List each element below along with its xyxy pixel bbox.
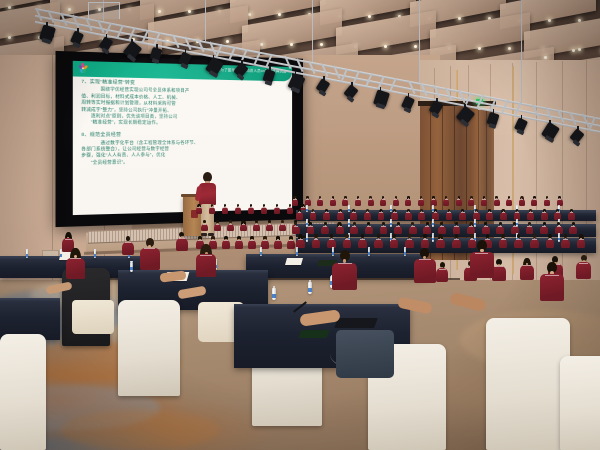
- water-bottle-label: [306, 238, 308, 241]
- audience-member-collar: [144, 248, 155, 249]
- audience-member-collar: [344, 199, 347, 200]
- audience-chair: [560, 356, 600, 450]
- audience-member-collar: [432, 199, 435, 200]
- audience-member: [561, 234, 570, 247]
- audience-member: [374, 234, 383, 247]
- table-top-surface: [234, 304, 410, 307]
- audience-member: [459, 209, 466, 220]
- audience-member-collar: [255, 224, 259, 225]
- audience-member-collar: [495, 266, 503, 267]
- audience-member-collar: [338, 212, 342, 213]
- audience-member: [176, 232, 188, 250]
- audience-member-collar: [345, 239, 350, 240]
- audience-member: [496, 222, 504, 234]
- audience-member-shirt: [409, 226, 417, 235]
- audience-member-collar: [454, 226, 458, 227]
- audience-member-shirt: [394, 226, 402, 235]
- audience-member: [292, 196, 298, 205]
- audience-member-shirt: [201, 224, 208, 232]
- water-bottle-label: [94, 254, 96, 257]
- audience-member-collar: [447, 212, 451, 213]
- audience-member: [520, 258, 534, 280]
- audience-member-collar: [360, 239, 365, 240]
- audience-member-collar: [475, 253, 488, 254]
- audience-member: [405, 234, 414, 247]
- audience-member-collar: [211, 240, 215, 241]
- audience-member-collar: [533, 199, 536, 200]
- water-bottle-label: [130, 267, 133, 271]
- audience-member-collar: [558, 199, 561, 200]
- audience-member: [296, 209, 303, 220]
- audience-member-collar: [445, 199, 448, 200]
- audience-member: [312, 234, 321, 247]
- audience-member: [274, 204, 280, 213]
- audience-member-collar: [419, 259, 431, 260]
- audience-member-shirt: [261, 240, 269, 249]
- audience-member: [431, 196, 437, 205]
- audience-member: [568, 209, 575, 220]
- audience-member-collar: [276, 240, 280, 241]
- audience-member-shirt: [66, 258, 85, 279]
- audience-member-collar: [570, 212, 574, 213]
- audience-member-shirt: [499, 239, 508, 249]
- audience-member-collar: [407, 199, 410, 200]
- audience-member-shirt: [365, 226, 373, 235]
- water-bottle-label: [260, 252, 262, 255]
- audience-member: [544, 196, 550, 205]
- audience-member-collar: [338, 263, 352, 264]
- audience-member: [436, 262, 448, 281]
- audience-member-collar: [396, 226, 400, 227]
- audience-member: [196, 204, 202, 213]
- table-top-surface: [0, 298, 60, 301]
- audience-member-collar: [216, 224, 220, 225]
- audience-member: [227, 220, 234, 231]
- audience-member: [453, 222, 461, 234]
- audience-member: [514, 209, 521, 220]
- audience-chair: [118, 300, 180, 396]
- audience-member-collar: [275, 207, 278, 208]
- audience-member-shirt: [414, 259, 436, 283]
- audience-member-collar: [406, 212, 410, 213]
- audience-member-shirt: [577, 239, 586, 249]
- audience-member: [555, 222, 563, 234]
- audience-member-collar: [288, 207, 291, 208]
- audience-member-shirt: [436, 268, 448, 282]
- attendee-trousers: [72, 300, 114, 334]
- audience-member-collar: [306, 199, 309, 200]
- audience-member-shirt: [482, 226, 490, 235]
- audience-member-collar: [523, 265, 531, 266]
- audience-member-collar: [502, 212, 506, 213]
- audience-member: [122, 236, 134, 255]
- audience-member: [343, 234, 352, 247]
- water-bottle-label: [368, 252, 370, 255]
- water-bottle-label: [432, 223, 434, 225]
- audience-member-collar: [197, 207, 200, 208]
- audience-member: [350, 209, 357, 220]
- audience-member-collar: [210, 207, 213, 208]
- audience-member-collar: [249, 207, 252, 208]
- audience-member: [261, 236, 269, 248]
- audience-member-collar: [498, 226, 502, 227]
- audience-member: [486, 209, 493, 220]
- audience-member-collar: [223, 207, 226, 208]
- audience-member-collar: [392, 239, 397, 240]
- audience-member: [546, 234, 555, 247]
- audience-member-collar: [379, 212, 383, 213]
- audience-member-collar: [407, 239, 412, 240]
- audience-member-collar: [411, 226, 415, 227]
- audience-member: [368, 196, 374, 205]
- audience-member: [274, 236, 282, 248]
- audience-member-shirt: [453, 226, 461, 235]
- audience-member: [482, 222, 490, 234]
- audience-chair: [0, 334, 46, 450]
- audience-member-collar: [434, 212, 438, 213]
- audience-member: [526, 222, 534, 234]
- audience-member-collar: [563, 239, 568, 240]
- audience-member: [473, 209, 480, 220]
- audience-member-shirt: [546, 239, 555, 249]
- audience-member-collar: [369, 199, 372, 200]
- audience-member-collar: [352, 212, 356, 213]
- audience-member-shirt: [496, 226, 504, 235]
- attendee-arm: [449, 292, 487, 312]
- audience-member: [405, 209, 412, 220]
- audience-member-collar: [294, 226, 298, 227]
- audience-member: [355, 196, 361, 205]
- audience-member: [500, 209, 507, 220]
- audience-member-shirt: [452, 239, 461, 249]
- mobile-device: [334, 318, 378, 328]
- audience-member-shirt: [279, 224, 286, 232]
- water-bottle-label: [26, 254, 28, 257]
- audience-member-collar: [513, 226, 517, 227]
- audience-member-collar: [308, 226, 312, 227]
- audience-member: [336, 222, 344, 234]
- audience-member-shirt: [421, 239, 430, 249]
- audience-member: [378, 209, 385, 220]
- audience-member-shirt: [514, 239, 523, 249]
- audience-member: [287, 236, 295, 248]
- audience-member-collar: [548, 239, 553, 240]
- audience-member-shirt: [576, 262, 591, 279]
- audience-member-collar: [224, 240, 228, 241]
- audience-member: [423, 222, 431, 234]
- audience-member: [279, 220, 286, 231]
- audience-member: [317, 196, 323, 205]
- audience-member-collar: [289, 240, 293, 241]
- audience-member-collar: [438, 239, 443, 240]
- audience-member-collar: [329, 239, 334, 240]
- audience-member: [365, 222, 373, 234]
- audience-member-collar: [545, 275, 559, 276]
- audience-member: [452, 234, 461, 247]
- audience-member-shirt: [561, 239, 570, 249]
- audience-member-collar: [457, 199, 460, 200]
- audience-member-collar: [557, 226, 561, 227]
- audience-member: [499, 234, 508, 247]
- audience-member: [409, 222, 417, 234]
- audience-member: [296, 234, 305, 247]
- audience-member-shirt: [358, 239, 367, 249]
- audience-member-shirt: [343, 239, 352, 249]
- audience-member-shirt: [222, 240, 230, 249]
- conference-room-photo: 一切为了篮球全体运动员人员он队员精神风貌 7、实现“精准经营”转变 围绕学优经…: [0, 0, 600, 450]
- audience-member-collar: [469, 226, 473, 227]
- water-bottle-label: [432, 238, 434, 241]
- audience-member: [531, 196, 537, 205]
- audience-member-collar: [440, 226, 444, 227]
- audience-member: [418, 209, 425, 220]
- audience-member-shirt: [390, 239, 399, 249]
- audience-member-collar: [482, 199, 485, 200]
- audience-member-collar: [125, 242, 132, 243]
- audience-member-collar: [508, 199, 511, 200]
- audience-member: [358, 234, 367, 247]
- audience-member: [514, 234, 523, 247]
- audience-member-collar: [532, 239, 537, 240]
- audience-member: [438, 222, 446, 234]
- audience-member-shirt: [423, 226, 431, 235]
- audience-member-shirt: [122, 242, 134, 255]
- audience-member-shirt: [530, 239, 539, 249]
- audience-member-collar: [376, 239, 381, 240]
- audience-member-shirt: [248, 240, 256, 249]
- audience-member: [342, 196, 348, 205]
- audience-member: [310, 209, 317, 220]
- audience-member-collar: [527, 226, 531, 227]
- audience-member: [235, 236, 243, 248]
- audience-member-collar: [488, 212, 492, 213]
- audience-member-shirt: [266, 224, 273, 232]
- audience-member-collar: [516, 239, 521, 240]
- audience-member: [321, 222, 329, 234]
- audience-member: [253, 220, 260, 231]
- audience-member: [446, 209, 453, 220]
- audience-member: [214, 220, 221, 231]
- audience-member-collar: [419, 199, 422, 200]
- audience-member: [350, 222, 358, 234]
- audience-member: [577, 234, 586, 247]
- audience-member-collar: [293, 199, 296, 200]
- audience-member: [140, 238, 160, 268]
- audience-member: [432, 209, 439, 220]
- audience-member: [494, 196, 500, 205]
- audience-member-collar: [382, 199, 385, 200]
- audience-member-collar: [352, 226, 356, 227]
- audience-member-shirt: [227, 224, 234, 232]
- audience-member-collar: [236, 207, 239, 208]
- audience-member: [248, 236, 256, 248]
- audience-member: [418, 196, 424, 205]
- audience-member: [261, 204, 267, 213]
- audience-member-shirt: [287, 240, 295, 249]
- audience-member-collar: [495, 199, 498, 200]
- audience-member-collar: [263, 240, 267, 241]
- audience-member-shirt: [292, 226, 300, 235]
- audience-member-collar: [545, 199, 548, 200]
- attendee-trousers: [336, 330, 394, 378]
- audience-member: [201, 220, 208, 231]
- audience-member: [305, 196, 311, 205]
- audience-member-collar: [542, 226, 546, 227]
- audience-member: [506, 196, 512, 205]
- audience-member-shirt: [438, 226, 446, 235]
- audience-member-collar: [298, 212, 302, 213]
- audience-member: [405, 196, 411, 205]
- audience-member: [394, 222, 402, 234]
- audience-member-collar: [229, 224, 233, 225]
- audience-member: [421, 234, 430, 247]
- audience-member-collar: [423, 239, 428, 240]
- audience-member-collar: [366, 212, 370, 213]
- audience-member: [222, 204, 228, 213]
- audience-member: [557, 196, 563, 205]
- audience-member-shirt: [350, 226, 358, 235]
- audience-member-shirt: [405, 239, 414, 249]
- audience-member-collar: [65, 239, 72, 240]
- audience-member-collar: [367, 226, 371, 227]
- audience-member-collar: [338, 226, 342, 227]
- audience-member: [209, 204, 215, 213]
- audience-member-collar: [70, 258, 81, 259]
- audience-member-shirt: [240, 224, 247, 232]
- audience-member-collar: [200, 255, 211, 256]
- audience-member-collar: [394, 199, 397, 200]
- audience-member: [323, 209, 330, 220]
- audience-member: [390, 234, 399, 247]
- audience-member-collar: [250, 240, 254, 241]
- audience-member: [292, 222, 300, 234]
- audience-member: [222, 236, 230, 248]
- audience-member-collar: [470, 199, 473, 200]
- audience-member: [554, 209, 561, 220]
- audience-member-collar: [556, 212, 560, 213]
- table-top-surface: [118, 270, 268, 273]
- audience-member-collar: [325, 212, 329, 213]
- audience-member-collar: [501, 239, 506, 240]
- audience-member-shirt: [520, 265, 534, 281]
- audience-member-shirt: [312, 239, 321, 249]
- audience-member-shirt: [380, 226, 388, 235]
- audience-member-collar: [474, 212, 478, 213]
- audience-member-collar: [515, 212, 519, 213]
- audience-member: [443, 196, 449, 205]
- audience-member-collar: [454, 239, 459, 240]
- audience-member-collar: [484, 226, 488, 227]
- audience-member-collar: [198, 240, 202, 241]
- audience-member-shirt: [374, 239, 383, 249]
- audience-member-collar: [420, 212, 424, 213]
- audience-member-collar: [311, 212, 315, 213]
- audience-member-collar: [520, 199, 523, 200]
- audience-member: [467, 222, 475, 234]
- audience-member-collar: [356, 199, 359, 200]
- audience-member-collar: [262, 207, 265, 208]
- audience-member: [519, 196, 525, 205]
- audience-member-shirt: [569, 226, 577, 235]
- audience-member-collar: [179, 238, 185, 239]
- audience-member-collar: [571, 226, 575, 227]
- audience-member-collar: [579, 263, 588, 264]
- audience-member: [380, 222, 388, 234]
- water-bottle-label: [308, 288, 312, 292]
- audience-member: [380, 196, 386, 205]
- audience-member-shirt: [540, 226, 548, 235]
- audience-member-collar: [298, 239, 303, 240]
- audience-member-collar: [393, 212, 397, 213]
- audience-member: [541, 209, 548, 220]
- audience-member-shirt: [235, 240, 243, 249]
- audience-member-shirt: [336, 226, 344, 235]
- audience-member-collar: [542, 212, 546, 213]
- audience-member-collar: [425, 226, 429, 227]
- audience-member-shirt: [436, 239, 445, 249]
- audience-member: [307, 222, 315, 234]
- audience-member: [66, 248, 85, 277]
- audience-member-shirt: [321, 226, 329, 235]
- audience-member-shirt: [140, 248, 160, 270]
- audience-member: [414, 248, 436, 281]
- audience-member-shirt: [196, 254, 216, 276]
- audience-member-collar: [281, 224, 285, 225]
- audience-member: [527, 209, 534, 220]
- audience-member: [481, 196, 487, 205]
- audience-chair: [486, 318, 570, 450]
- audience-member-collar: [331, 199, 334, 200]
- audience-member: [492, 259, 506, 280]
- audience-member: [511, 222, 519, 234]
- audience-member-collar: [579, 239, 584, 240]
- water-bottle-label: [306, 209, 308, 211]
- audience-member-collar: [381, 226, 385, 227]
- audience-member: [569, 222, 577, 234]
- audience-member: [327, 234, 336, 247]
- audience-member: [436, 234, 445, 247]
- water-bottle-label: [390, 223, 392, 225]
- audience-member-shirt: [540, 274, 564, 301]
- audience-member-collar: [203, 224, 207, 225]
- audience-member: [266, 220, 273, 231]
- audience-member: [391, 209, 398, 220]
- audience-member-shirt: [253, 224, 260, 232]
- audience-member-collar: [242, 224, 246, 225]
- audience-member-collar: [314, 239, 319, 240]
- audience-member: [332, 250, 357, 289]
- audience-member: [393, 196, 399, 205]
- audience-member: [196, 244, 216, 276]
- audience-member: [235, 204, 241, 213]
- water-bottle-label: [404, 252, 406, 255]
- mobile-device: [298, 330, 329, 338]
- audience-member: [540, 262, 564, 300]
- audience-member: [456, 196, 462, 205]
- audience-member-collar: [237, 240, 241, 241]
- audience-member-collar: [529, 212, 533, 213]
- audience-member: [337, 209, 344, 220]
- audience-member-collar: [439, 269, 446, 270]
- audience-member: [240, 220, 247, 231]
- audience-member-shirt: [214, 224, 221, 232]
- water-bottle-label: [272, 294, 276, 298]
- audience-member: [468, 196, 474, 205]
- audience-member: [540, 222, 548, 234]
- audience-member-shirt: [492, 266, 506, 281]
- audience-member: [470, 240, 494, 277]
- audience-member-collar: [319, 199, 322, 200]
